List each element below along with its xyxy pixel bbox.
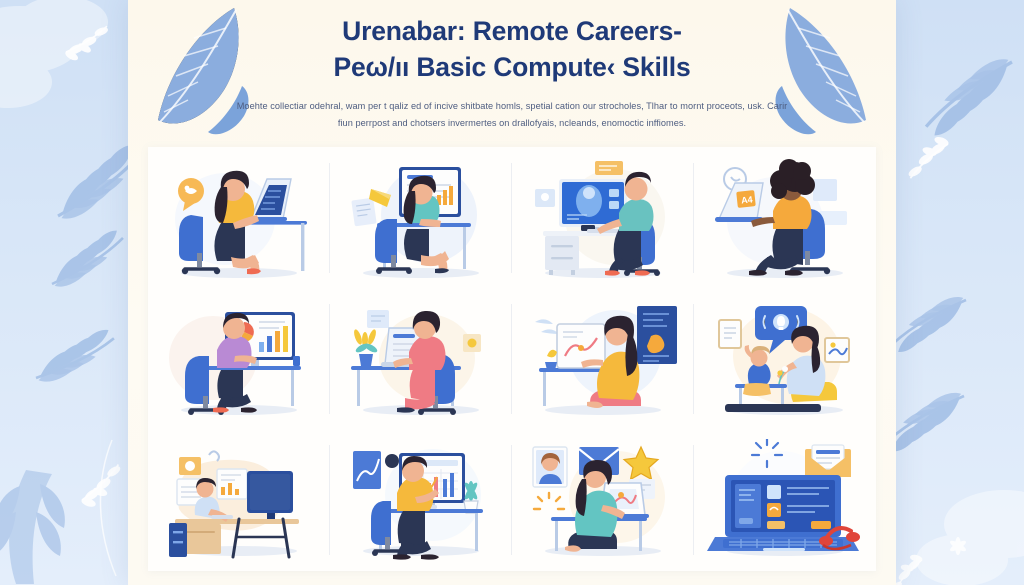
grid-cell-woman-back-laptop-plant[interactable]: Woman in pink seen from behind working o…	[330, 288, 512, 429]
title-line-2: Peω/ıı Basic Compute‹ Skills	[220, 50, 804, 86]
man-dual-monitor-desk-illustration	[155, 439, 323, 561]
grid-cell-woman-desktop-resume[interactable]: Woman in teal top at a desk viewing a la…	[330, 147, 512, 288]
woman-desktop-resume-illustration	[337, 153, 505, 283]
laptop-ui-headphones-illustration	[701, 439, 869, 561]
poster-card: Urenabar: Remote Careers- Peω/ıı Basic C…	[128, 0, 896, 585]
grid-cell-laptop-ui-headphones[interactable]: Open blue laptop displaying an applicati…	[694, 430, 876, 571]
grid-cell-two-people-idea-bubble[interactable]: Two people sitting together with a blue …	[694, 288, 876, 429]
grid-cell-person-dashboard-charts[interactable]: Person in yellow top standing at a desk …	[330, 430, 512, 571]
svg-text:A4: A4	[741, 194, 753, 205]
title-line-1: Urenabar: Remote Careers-	[220, 14, 804, 50]
page-subtitle: Moehte collectiar odehral, wam per t qal…	[220, 98, 804, 132]
header: Urenabar: Remote Careers- Peω/ıı Basic C…	[128, 14, 896, 132]
flower-icon	[949, 537, 968, 555]
grid-cell-woman-floor-tablet[interactable]: Woman in yellow sweater sitting on the f…	[512, 288, 694, 429]
man-analytics-monitor-illustration	[155, 298, 323, 420]
grid-cell-woman-laptop-chair[interactable]: Woman in yellow top typing on a laptop a…	[148, 147, 330, 288]
illustration-grid: Woman in yellow top typing on a laptop a…	[148, 147, 876, 571]
grid-cell-woman-laptop-mail-star[interactable]: Woman kneeling at a low table with a lap…	[512, 430, 694, 571]
illustration-grid-panel: Woman in yellow top typing on a laptop a…	[148, 147, 876, 571]
grid-cell-man-analytics-monitor[interactable]: Man in purple shirt at a desk pointing a…	[148, 288, 330, 429]
page-title: Urenabar: Remote Careers- Peω/ıı Basic C…	[220, 14, 804, 85]
person-dashboard-charts-illustration	[337, 439, 505, 561]
grid-cell-woman-afro-laptop[interactable]: Woman with afro hair in orange top worki…	[694, 147, 876, 288]
woman-afro-laptop-illustration: A4	[701, 153, 869, 283]
woman-back-laptop-plant-illustration	[337, 298, 505, 420]
man-desktop-video-illustration	[519, 153, 687, 283]
woman-laptop-mail-star-illustration	[519, 439, 687, 561]
woman-laptop-chair-illustration	[155, 153, 323, 283]
woman-floor-tablet-illustration	[519, 298, 687, 420]
two-people-idea-bubble-illustration	[701, 298, 869, 420]
grid-cell-man-dual-monitor-desk[interactable]: Man at a wooden desk with a dual monitor…	[148, 430, 330, 571]
grid-cell-man-desktop-video[interactable]: Man in teal shirt at a desk with a blue-…	[512, 147, 694, 288]
